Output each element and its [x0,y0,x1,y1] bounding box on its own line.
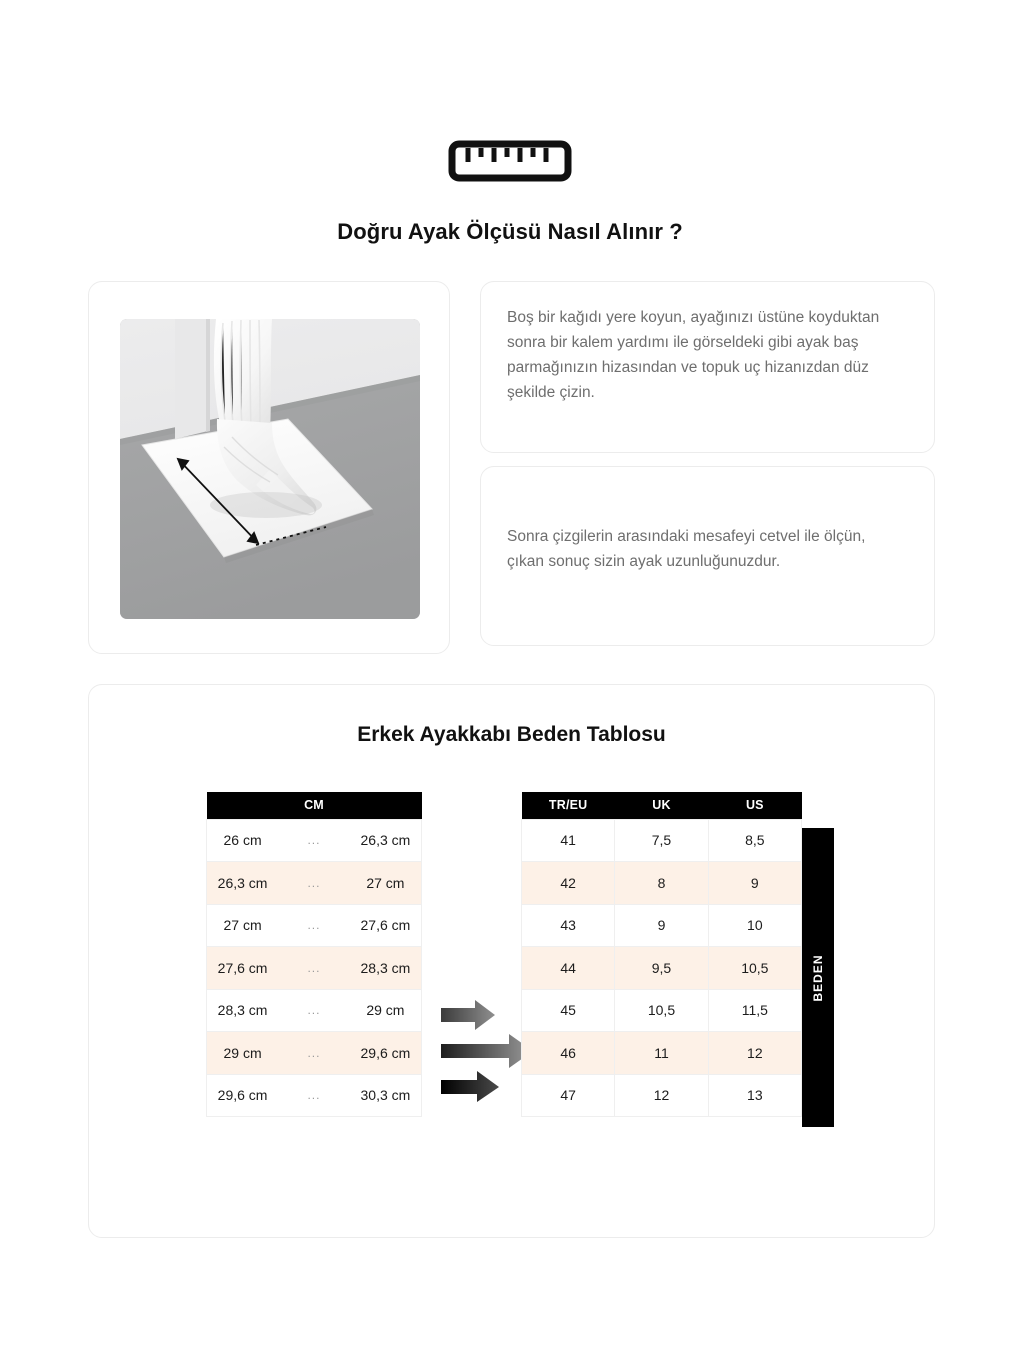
cm-high-value: 29,6 cm [350,1032,422,1075]
cm-table-row: 27,6 cm...28,3 cm [207,947,422,990]
cm-low-value: 27 cm [207,904,279,947]
cm-high-value: 27,6 cm [350,904,422,947]
cm-low-value: 26,3 cm [207,862,279,905]
cm-range-separator: ... [278,1074,350,1117]
size-us-value: 11,5 [708,989,801,1032]
beden-side-bar: BEDEN [802,828,834,1127]
instruction-text-1: Boş bir kağıdı yere koyun, ayağınızı üst… [507,305,904,405]
cm-table-row: 28,3 cm...29 cm [207,989,422,1032]
size-uk-value: 11 [615,1032,708,1075]
size-uk-value: 10,5 [615,989,708,1032]
cm-table-row: 29,6 cm...30,3 cm [207,1074,422,1117]
foot-measurement-photo [120,319,420,619]
cm-range-separator: ... [278,819,350,862]
measurement-photo-card [88,281,450,654]
cm-low-value: 26 cm [207,819,279,862]
size-table-row: 461112 [522,1032,802,1075]
size-tr-eu-value: 42 [522,862,615,905]
size-chart-title: Erkek Ayakkabı Beden Tablosu [89,723,934,747]
cm-range-separator: ... [278,1032,350,1075]
size-tr-eu-value: 46 [522,1032,615,1075]
size-header-uk: UK [615,792,708,819]
cm-high-value: 29 cm [350,989,422,1032]
cm-high-value: 26,3 cm [350,819,422,862]
cm-range-table: CM 26 cm...26,3 cm26,3 cm...27 cm27 cm..… [206,792,422,1117]
cm-table-row: 29 cm...29,6 cm [207,1032,422,1075]
instruction-text-2: Sonra çizgilerin arasındaki mesafeyi cet… [507,524,904,574]
size-tr-eu-value: 45 [522,989,615,1032]
cm-range-separator: ... [278,904,350,947]
size-header-us: US [708,792,801,819]
size-tr-eu-value: 41 [522,819,615,862]
ruler-icon [448,140,572,182]
size-us-value: 9 [708,862,801,905]
size-us-value: 12 [708,1032,801,1075]
size-table-body: 417,58,5428943910449,510,54510,511,54611… [522,819,802,1117]
size-table-row: 4289 [522,862,802,905]
size-uk-value: 9,5 [615,947,708,990]
instruction-card-2: Sonra çizgilerin arasındaki mesafeyi cet… [480,466,935,646]
size-uk-value: 12 [615,1074,708,1117]
size-uk-value: 9 [615,904,708,947]
size-table-header-row: TR/EUUKUS [522,792,802,819]
size-conversion-table: TR/EUUKUS 417,58,5428943910449,510,54510… [521,792,802,1117]
size-table-row: 4510,511,5 [522,989,802,1032]
size-us-value: 13 [708,1074,801,1117]
beden-side-label: BEDEN [811,954,825,1001]
cm-high-value: 27 cm [350,862,422,905]
cm-low-value: 29 cm [207,1032,279,1075]
size-us-value: 10,5 [708,947,801,990]
size-us-value: 8,5 [708,819,801,862]
cm-range-separator: ... [278,862,350,905]
size-table-row: 43910 [522,904,802,947]
cm-high-value: 30,3 cm [350,1074,422,1117]
cm-high-value: 28,3 cm [350,947,422,990]
cm-table-row: 26,3 cm...27 cm [207,862,422,905]
cm-table-row: 27 cm...27,6 cm [207,904,422,947]
size-chart-card: Erkek Ayakkabı Beden Tablosu CM 26 cm...… [88,684,935,1238]
cm-range-separator: ... [278,989,350,1032]
cm-table-body: 26 cm...26,3 cm26,3 cm...27 cm27 cm...27… [207,819,422,1117]
page-title: Doğru Ayak Ölçüsü Nasıl Alınır ? [0,219,1020,245]
size-tr-eu-value: 47 [522,1074,615,1117]
instruction-card-1: Boş bir kağıdı yere koyun, ayağınızı üst… [480,281,935,453]
cm-table-header-row: CM [207,792,422,819]
cm-low-value: 27,6 cm [207,947,279,990]
size-us-value: 10 [708,904,801,947]
size-table-row: 471213 [522,1074,802,1117]
size-table-row: 449,510,5 [522,947,802,990]
size-tr-eu-value: 44 [522,947,615,990]
size-header-tr-eu: TR/EU [522,792,615,819]
size-tables-container: CM 26 cm...26,3 cm26,3 cm...27 cm27 cm..… [89,792,936,1127]
size-uk-value: 7,5 [615,819,708,862]
size-tr-eu-value: 43 [522,904,615,947]
three-right-arrows-icon [441,1000,533,1102]
cm-header-cell: CM [207,792,422,819]
cm-low-value: 28,3 cm [207,989,279,1032]
size-guide-page: Doğru Ayak Ölçüsü Nasıl Alınır ? [0,0,1020,1360]
size-uk-value: 8 [615,862,708,905]
cm-table-row: 26 cm...26,3 cm [207,819,422,862]
ruler-icon-container [0,140,1020,182]
cm-low-value: 29,6 cm [207,1074,279,1117]
cm-range-separator: ... [278,947,350,990]
size-table-row: 417,58,5 [522,819,802,862]
